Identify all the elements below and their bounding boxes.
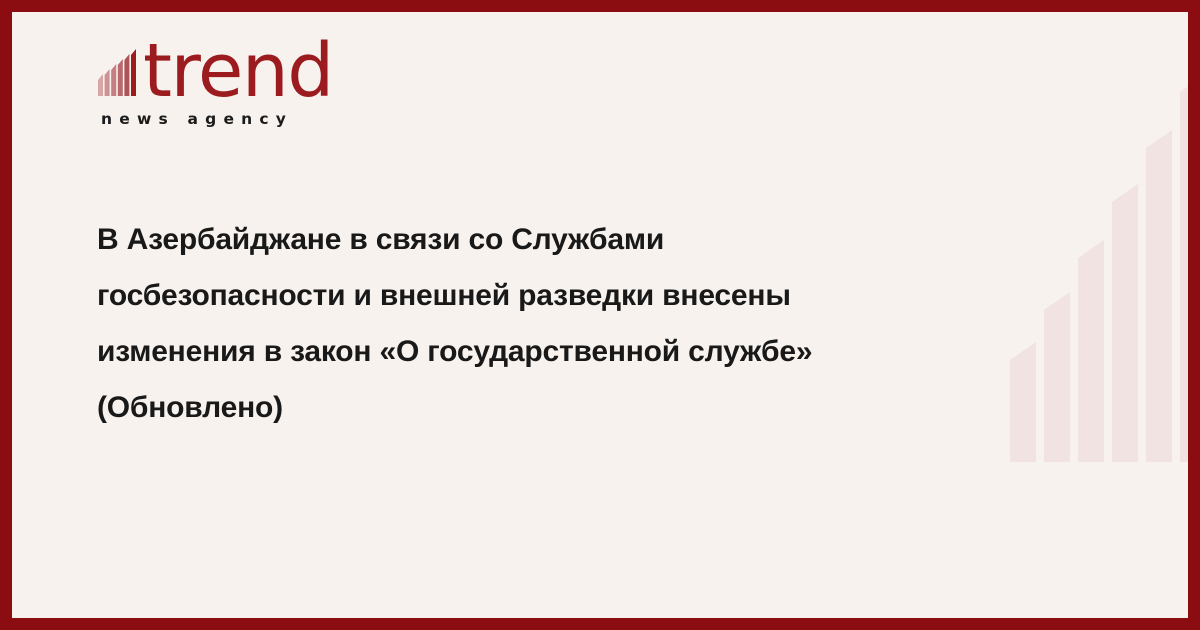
ascending-bars-mark-icon (97, 42, 145, 98)
watermark-bar (1078, 240, 1104, 462)
logo-mark-bar (131, 49, 136, 96)
card-canvas: trend news agency В Азербайджане в связи… (12, 12, 1188, 618)
watermark-bar (1010, 342, 1036, 462)
watermark-svg (998, 12, 1188, 618)
headline-line: В Азербайджане в связи со Службами (97, 212, 962, 268)
logo-mark (97, 42, 145, 103)
headline-line: изменения в закон «О государственной слу… (97, 324, 962, 380)
logo-tagline: news agency (101, 110, 293, 128)
headline-line: госбезопасности и внешней разведки внесе… (97, 268, 962, 324)
logo-mark-bar (118, 59, 123, 96)
watermark-bar (1044, 292, 1070, 462)
headline: В Азербайджане в связи со Службами госбе… (97, 212, 962, 436)
ascending-bars-watermark (998, 12, 1188, 618)
watermark-bar (1180, 74, 1188, 462)
watermark-bar (1146, 130, 1172, 462)
logo-mark-bar (98, 74, 103, 96)
logo-mark-bar (124, 54, 129, 96)
brand-logo[interactable]: trend news agency (97, 42, 397, 147)
logo-mark-bar (105, 69, 110, 96)
logo-wordmark: trend (143, 34, 333, 108)
logo-mark-bars (98, 49, 136, 96)
watermark-bar (1112, 184, 1138, 462)
social-share-card: trend news agency В Азербайджане в связи… (0, 0, 1200, 630)
watermark-bars (1010, 74, 1188, 462)
headline-line: (Обновлено) (97, 380, 962, 436)
logo-mark-bar (111, 64, 116, 96)
